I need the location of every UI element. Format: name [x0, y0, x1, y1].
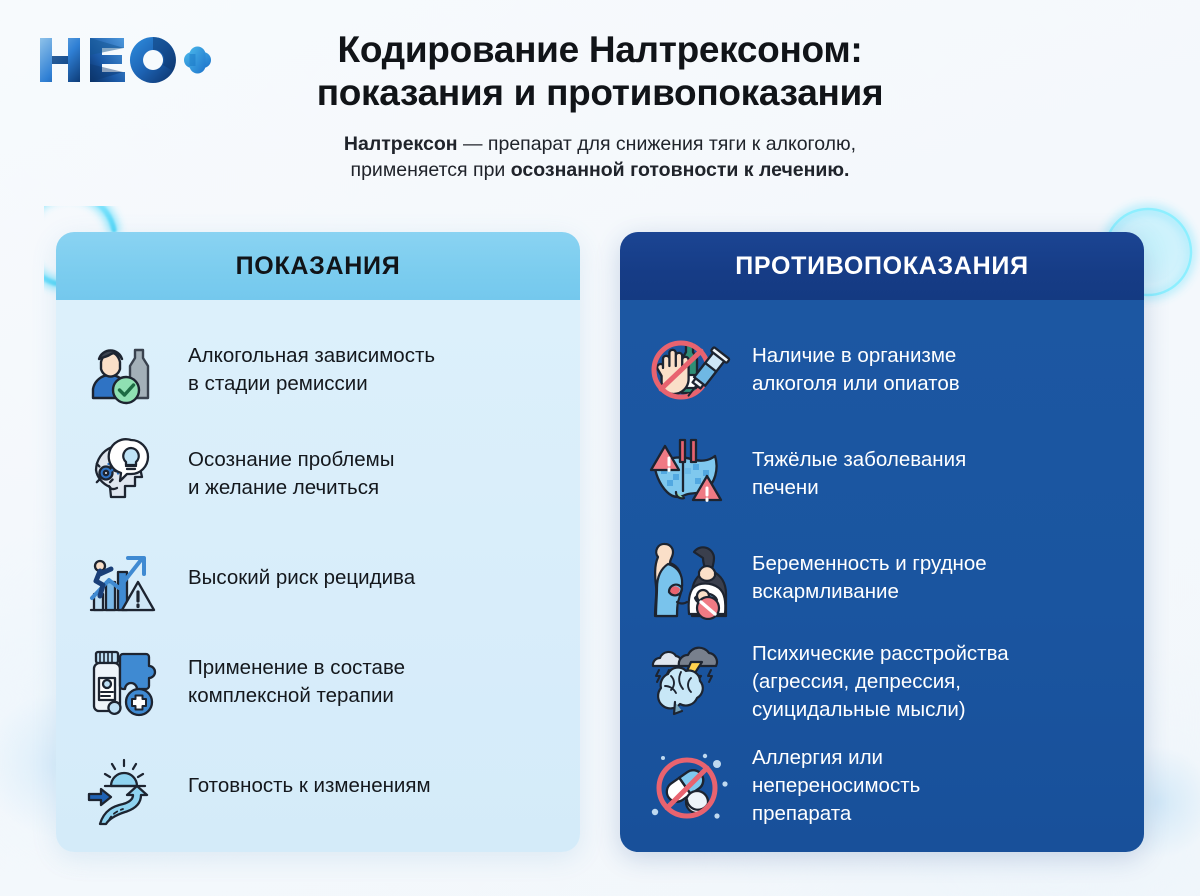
contraindication-line-3: суицидальные мысли) — [752, 696, 1009, 724]
indications-card-header: ПОКАЗАНИЯ — [56, 232, 580, 300]
indication-item[interactable]: Высокий риск рецидива — [82, 526, 554, 630]
indication-line-1: Осознание проблемы — [188, 446, 395, 474]
subtitle-text-1: — препарат для снижения тяги к алкоголю, — [458, 133, 856, 155]
subtitle-emphasis: осознанной готовности к лечению. — [511, 159, 850, 181]
liver-warning-icon — [646, 431, 732, 517]
sunrise-road-arrow-icon — [82, 743, 168, 829]
indication-line-1: Высокий риск рецидива — [188, 564, 415, 592]
subtitle-line-2: применяется при осознанной готовности к … — [215, 157, 985, 184]
head-gears-bulb-icon — [82, 431, 168, 517]
page-title-line-2: показания и противопоказания — [215, 71, 985, 114]
stop-hand-bottle-syringe-icon — [646, 327, 732, 413]
contraindication-line-2: алкоголя или опиатов — [752, 370, 960, 398]
indication-line-2: комплексной терапии — [188, 682, 405, 710]
contraindication-line-1: Беременность и грудное — [752, 550, 987, 578]
indications-card: ПОКАЗАНИЯ Алкогольная зависимость — [56, 232, 580, 852]
indications-card-body: Алкогольная зависимость в стадии ремисси… — [56, 300, 580, 852]
contraindication-item[interactable]: Беременность и грудное вскармливание — [646, 526, 1118, 630]
page-title: Кодирование Налтрексоном: показания и пр… — [215, 28, 985, 115]
risk-chart-warning-icon — [82, 535, 168, 621]
pregnancy-breastfeeding-icon — [646, 535, 732, 621]
contraindication-line-1: Психические расстройства — [752, 640, 1009, 668]
contraindication-item[interactable]: Психические расстройства (агрессия, депр… — [646, 630, 1118, 734]
contraindication-item[interactable]: Аллергия или непереносимость препарата — [646, 734, 1118, 838]
contraindication-item[interactable]: Тяжёлые заболевания печени — [646, 422, 1118, 526]
contraindications-title: ПРОТИВОПОКАЗАНИЯ — [735, 252, 1029, 281]
page-subtitle: Налтрексон — препарат для снижения тяги … — [215, 131, 985, 185]
subtitle-drug-name: Налтрексон — [344, 133, 458, 155]
contraindication-line-1: Тяжёлые заболевания — [752, 446, 966, 474]
contraindications-card-body: Наличие в организме алкоголя или опиатов — [620, 300, 1144, 852]
contraindication-line-1: Аллергия или — [752, 744, 920, 772]
title-block: Кодирование Налтрексоном: показания и пр… — [215, 28, 985, 184]
indication-line-1: Применение в составе — [188, 654, 405, 682]
contraindication-line-2: вскармливание — [752, 578, 987, 606]
indication-item[interactable]: Применение в составе комплексной терапии — [82, 630, 554, 734]
contraindication-line-1: Наличие в организме — [752, 342, 960, 370]
neo-plus-logo[interactable] — [38, 30, 213, 90]
no-pills-allergy-icon — [646, 743, 732, 829]
contraindication-item-text: Наличие в организме алкоголя или опиатов — [752, 342, 960, 398]
indication-line-1: Готовность к изменениям — [188, 772, 431, 800]
subtitle-line-1: Налтрексон — препарат для снижения тяги … — [215, 131, 985, 158]
contraindication-item[interactable]: Наличие в организме алкоголя или опиатов — [646, 318, 1118, 422]
indication-item[interactable]: Осознание проблемы и желание лечиться — [82, 422, 554, 526]
contraindication-item-text: Психические расстройства (агрессия, депр… — [752, 640, 1009, 724]
indications-title: ПОКАЗАНИЯ — [236, 252, 401, 281]
contraindication-item-text: Беременность и грудное вскармливание — [752, 550, 987, 606]
indication-line-2: в стадии ремиссии — [188, 370, 435, 398]
indication-item-text: Высокий риск рецидива — [188, 564, 415, 592]
indication-item-text: Готовность к изменениям — [188, 772, 431, 800]
contraindications-card-header: ПРОТИВОПОКАЗАНИЯ — [620, 232, 1144, 300]
indication-line-2: и желание лечиться — [188, 474, 395, 502]
page-title-line-1: Кодирование Налтрексоном: — [215, 28, 985, 71]
brain-storm-cloud-icon — [646, 639, 732, 725]
contraindications-card: ПРОТИВОПОКАЗАНИЯ — [620, 232, 1144, 852]
indication-item-text: Применение в составе комплексной терапии — [188, 654, 405, 710]
person-bottle-check-icon — [82, 327, 168, 413]
indication-item-text: Осознание проблемы и желание лечиться — [188, 446, 395, 502]
pill-bottle-puzzle-cross-icon — [82, 639, 168, 725]
indication-item[interactable]: Готовность к изменениям — [82, 734, 554, 838]
contraindication-line-2: печени — [752, 474, 966, 502]
subtitle-text-2: применяется при — [351, 159, 511, 181]
contraindication-line-3: препарата — [752, 800, 920, 828]
contraindication-item-text: Аллергия или непереносимость препарата — [752, 744, 920, 828]
page-header: Кодирование Налтрексоном: показания и пр… — [0, 0, 1200, 215]
indication-item-text: Алкогольная зависимость в стадии ремисси… — [188, 342, 435, 398]
contraindication-line-2: (агрессия, депрессия, — [752, 668, 1009, 696]
indication-item[interactable]: Алкогольная зависимость в стадии ремисси… — [82, 318, 554, 422]
contraindication-line-2: непереносимость — [752, 772, 920, 800]
indication-line-1: Алкогольная зависимость — [188, 342, 435, 370]
contraindication-item-text: Тяжёлые заболевания печени — [752, 446, 966, 502]
